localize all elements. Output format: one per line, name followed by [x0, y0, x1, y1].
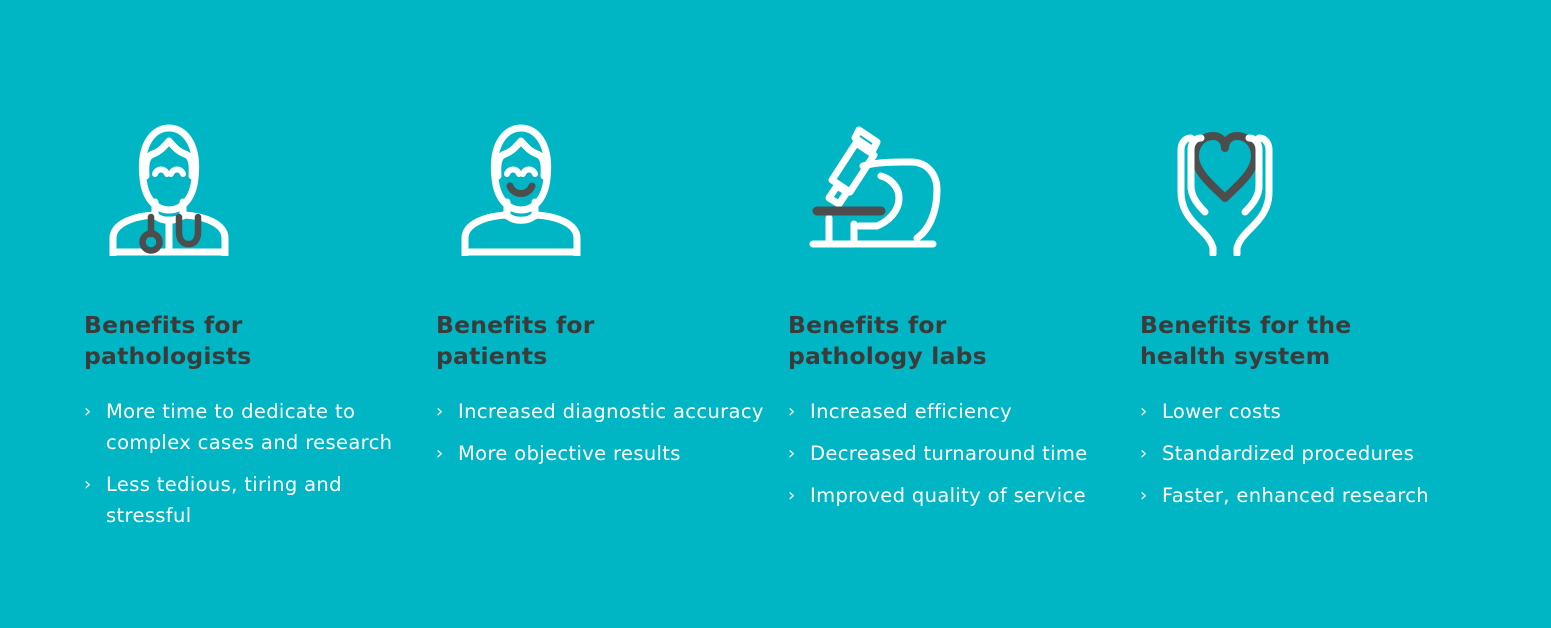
column-title: Benefits for patients [436, 310, 770, 372]
chevron-right-icon: › [788, 480, 810, 511]
smiling-patient-icon [451, 116, 591, 256]
microscope-icon [799, 116, 947, 256]
doctor-with-stethoscope-icon [99, 116, 239, 256]
list-item-label: Decreased turnaround time [810, 438, 1122, 469]
benefit-list: › Lower costs › Standardized procedures … [1140, 396, 1520, 511]
benefit-list: › Increased efficiency › Decreased turna… [788, 396, 1122, 511]
list-item: › Standardized procedures [1140, 438, 1520, 469]
benefit-list: › Increased diagnostic accuracy › More o… [436, 396, 770, 469]
column-title: Benefits for pathology labs [788, 310, 1122, 372]
list-item: › Decreased turnaround time [788, 438, 1122, 469]
list-item: › Improved quality of service [788, 480, 1122, 511]
list-item: › Lower costs [1140, 396, 1520, 427]
list-item: › Increased efficiency [788, 396, 1122, 427]
list-item-label: Increased diagnostic accuracy [458, 396, 770, 427]
list-item-label: Standardized procedures [1162, 438, 1520, 469]
chevron-right-icon: › [788, 396, 810, 427]
list-item-label: More time to dedicate to complex cases a… [106, 396, 418, 458]
chevron-right-icon: › [1140, 396, 1162, 427]
list-item: › Increased diagnostic accuracy [436, 396, 770, 427]
benefits-columns: Benefits for pathologists › More time to… [84, 96, 1504, 531]
list-item: › More time to dedicate to complex cases… [84, 396, 418, 458]
benefit-column-pathologists: Benefits for pathologists › More time to… [84, 96, 436, 531]
chevron-right-icon: › [436, 438, 458, 469]
icon-container-health-system [1140, 96, 1520, 256]
list-item: › More objective results [436, 438, 770, 469]
heart-in-hands-icon [1151, 126, 1299, 256]
icon-container-pathologists [84, 96, 418, 256]
chevron-right-icon: › [436, 396, 458, 427]
benefits-panel: Benefits for pathologists › More time to… [0, 0, 1551, 628]
list-item-label: Faster, enhanced research [1162, 480, 1520, 511]
column-title: Benefits for the health system [1140, 310, 1520, 372]
list-item-label: More objective results [458, 438, 770, 469]
column-title: Benefits for pathologists [84, 310, 418, 372]
chevron-right-icon: › [84, 469, 106, 500]
benefit-column-patients: Benefits for patients › Increased diagno… [436, 96, 788, 469]
chevron-right-icon: › [1140, 438, 1162, 469]
icon-container-pathology-labs [788, 96, 1122, 256]
list-item-label: Improved quality of service [810, 480, 1122, 511]
icon-container-patients [436, 96, 770, 256]
benefit-column-pathology-labs: Benefits for pathology labs › Increased … [788, 96, 1140, 511]
list-item: › Faster, enhanced research [1140, 480, 1520, 511]
list-item-label: Less tedious, tiring and stressful [106, 469, 418, 531]
benefit-list: › More time to dedicate to complex cases… [84, 396, 418, 531]
list-item-label: Increased efficiency [810, 396, 1122, 427]
benefit-column-health-system: Benefits for the health system › Lower c… [1140, 96, 1520, 511]
list-item-label: Lower costs [1162, 396, 1520, 427]
chevron-right-icon: › [1140, 480, 1162, 511]
list-item: › Less tedious, tiring and stressful [84, 469, 418, 531]
chevron-right-icon: › [84, 396, 106, 427]
chevron-right-icon: › [788, 438, 810, 469]
